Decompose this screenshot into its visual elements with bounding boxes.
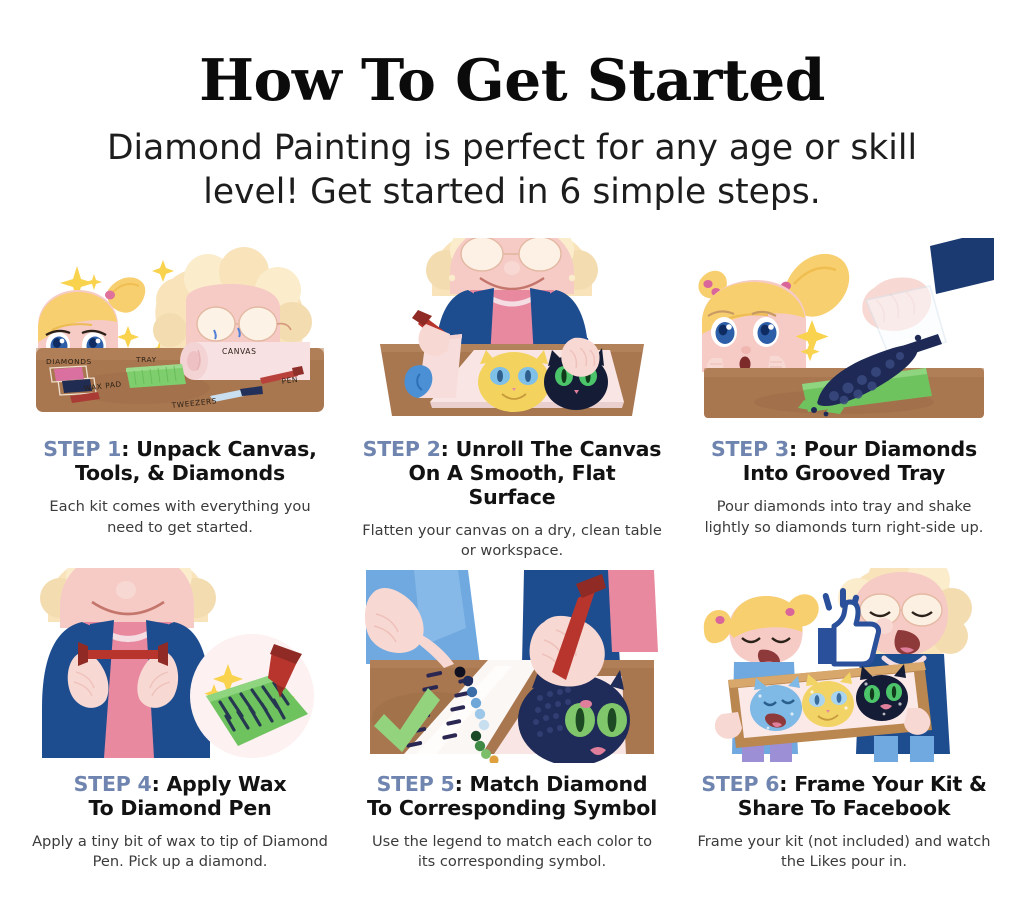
step-card-6: STEP 6: Frame Your Kit & Share To Facebo… [678, 568, 1010, 873]
page-title: How To Get Started [0, 52, 1024, 109]
step-2-description: Flatten your canvas on a dry, clean tabl… [362, 521, 662, 562]
header: How To Get Started Diamond Painting is p… [0, 0, 1024, 214]
page-subtitle: Diamond Painting is perfect for any age … [72, 126, 952, 214]
step-3-title: STEP 3: Pour Diamonds Into Grooved Tray [694, 438, 994, 486]
step-5-illustration [362, 568, 662, 763]
grandma-figure [426, 238, 598, 296]
step-1-title-line1: Unpack Canvas, [136, 437, 317, 461]
illustration-unpack-supplies: DIAMONDS TRAY WAX PAD CANVAS TWEEZERS PE… [30, 238, 330, 428]
step-4-title: STEP 4: Apply Wax To Diamond Pen [30, 773, 330, 821]
girl-figure [38, 278, 145, 359]
step-3-title-line1: Pour Diamonds [804, 437, 977, 461]
step-1-number: STEP 1 [43, 437, 121, 461]
step-4-illustration [30, 568, 330, 763]
step-6-number: STEP 6 [701, 772, 779, 796]
step-6-title-line2: Share To Facebook [738, 796, 951, 820]
step-card-4: STEP 4: Apply Wax To Diamond Pen Apply a… [14, 568, 346, 873]
illustration-match-symbol [362, 568, 662, 763]
step-5-description: Use the legend to match each color to it… [362, 832, 662, 873]
girl-figure [698, 254, 849, 376]
diamond-tray [126, 364, 186, 388]
step-6-title: STEP 6: Frame Your Kit & Share To Facebo… [694, 773, 994, 821]
step-5-number: STEP 5 [377, 772, 455, 796]
step-1-description: Each kit comes with everything you need … [30, 497, 330, 538]
grandma-figure [40, 568, 216, 628]
label-canvas: CANVAS [222, 347, 257, 356]
step-2-illustration [362, 238, 662, 428]
step-2-number: STEP 2 [363, 437, 441, 461]
illustration-apply-wax [30, 568, 330, 763]
step-card-5: STEP 5: Match Diamond To Corresponding S… [346, 568, 678, 873]
step-5-title-line2: To Corresponding Symbol [367, 796, 657, 820]
step-6-title-line1: Frame Your Kit & [794, 772, 986, 796]
step-4-title-line2: To Diamond Pen [89, 796, 272, 820]
illustration-unroll-canvas [362, 238, 662, 428]
step-4-description: Apply a tiny bit of wax to tip of Diamon… [30, 832, 330, 873]
step-4-number: STEP 4 [74, 772, 152, 796]
infographic-page: How To Get Started Diamond Painting is p… [0, 0, 1024, 922]
step-1-title-line2: Tools, & Diamonds [75, 461, 285, 485]
step-5-title-line1: Match Diamond [470, 772, 648, 796]
step-2-title-line1: Unroll The Canvas [456, 437, 662, 461]
hand [715, 712, 742, 739]
yellow-cat-art [478, 350, 550, 412]
illustration-pour-diamonds [694, 238, 994, 428]
grandma-figure [153, 247, 312, 350]
inset-closeup [190, 634, 314, 758]
step-3-title-line2: Into Grooved Tray [743, 461, 945, 485]
step-3-number: STEP 3 [711, 437, 789, 461]
step-2-title-line2: On A Smooth, Flat Surface [408, 461, 615, 509]
step-6-illustration [694, 568, 994, 763]
step-6-description: Frame your kit (not included) and watch … [694, 832, 994, 873]
step-1-illustration: DIAMONDS TRAY WAX PAD CANVAS TWEEZERS PE… [30, 238, 330, 428]
step-card-3: STEP 3: Pour Diamonds Into Grooved Tray … [678, 238, 1010, 562]
step-5-title: STEP 5: Match Diamond To Corresponding S… [362, 773, 662, 821]
step-2-title: STEP 2: Unroll The Canvas On A Smooth, F… [362, 438, 662, 509]
label-tray: TRAY [135, 355, 157, 364]
step-3-illustration [694, 238, 994, 428]
illustration-frame-and-share [694, 568, 994, 763]
step-card-2: STEP 2: Unroll The Canvas On A Smooth, F… [346, 238, 678, 562]
step-4-title-line1: Apply Wax [167, 772, 287, 796]
step-1-title: STEP 1: Unpack Canvas, Tools, & Diamonds [30, 438, 330, 486]
step-card-1: DIAMONDS TRAY WAX PAD CANVAS TWEEZERS PE… [14, 238, 346, 562]
label-diamonds: DIAMONDS [46, 357, 92, 366]
steps-grid: DIAMONDS TRAY WAX PAD CANVAS TWEEZERS PE… [0, 238, 1024, 873]
step-3-description: Pour diamonds into tray and shake lightl… [694, 497, 994, 538]
